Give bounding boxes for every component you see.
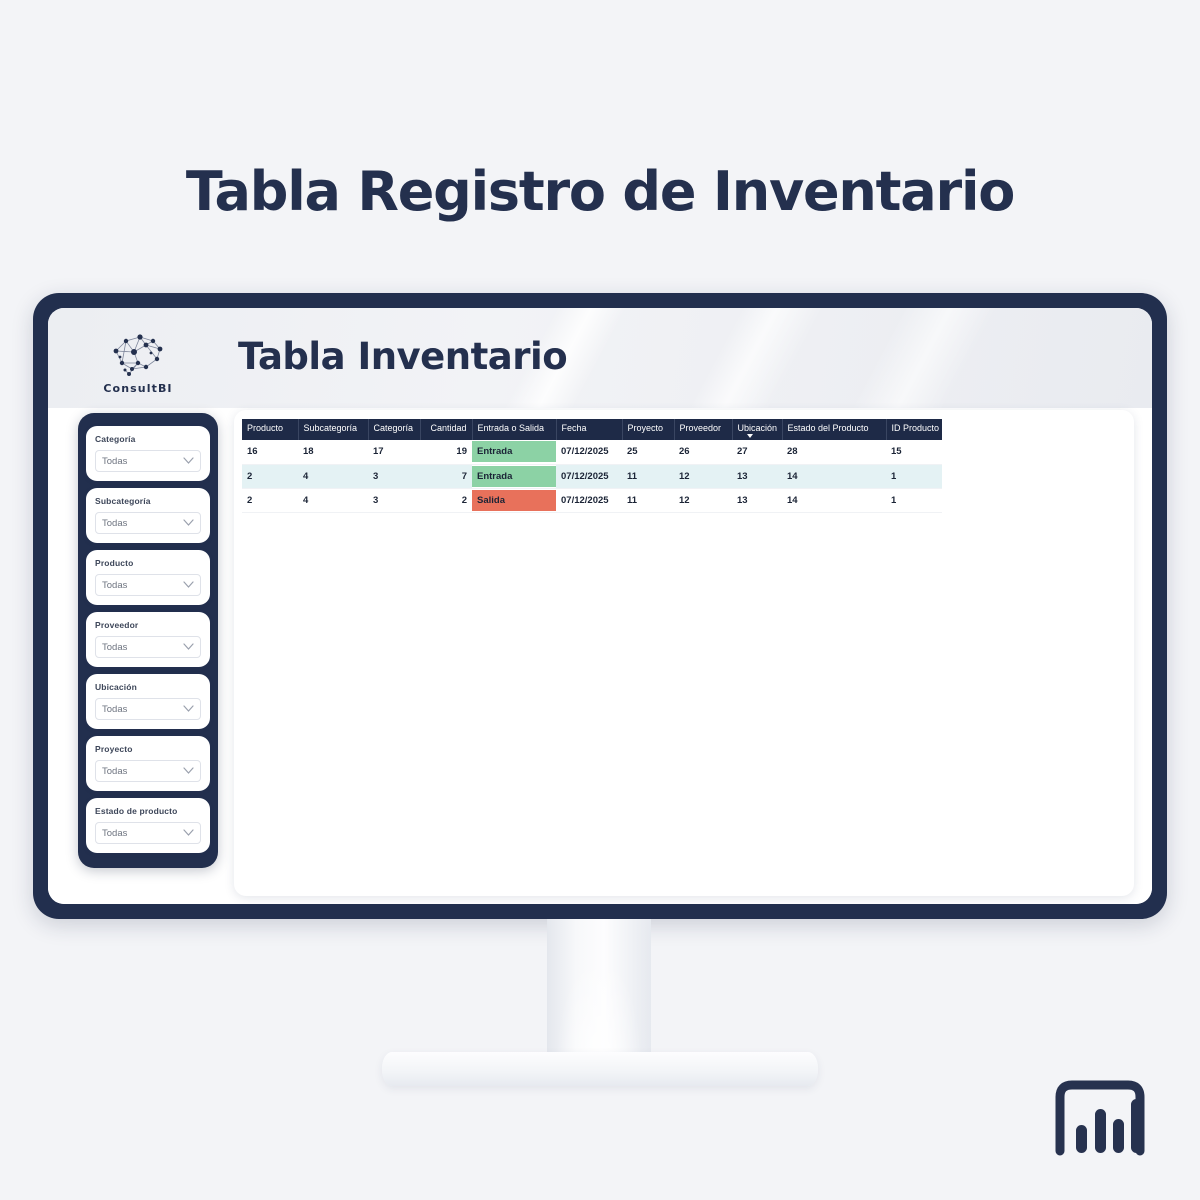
power-bi-icon bbox=[1050, 1077, 1150, 1169]
sort-descending-icon bbox=[747, 434, 753, 438]
filter-label-proyecto: Proyecto bbox=[95, 744, 201, 754]
filter-value-subcategor-a: Todas bbox=[102, 518, 127, 529]
filter-card-categor-a: CategoríaTodas bbox=[86, 426, 210, 481]
cell-categoria: 17 bbox=[368, 440, 420, 464]
brand-logo-text: ConsultBI bbox=[96, 382, 180, 395]
cell-proyecto: 11 bbox=[622, 464, 674, 488]
cell-estado: 28 bbox=[782, 440, 886, 464]
filter-label-proveedor: Proveedor bbox=[95, 620, 201, 630]
cell-id-producto: 1 bbox=[886, 464, 942, 488]
cell-fecha: 07/12/2025 bbox=[556, 440, 622, 464]
filter-label-ubicaci-n: Ubicación bbox=[95, 682, 201, 692]
chevron-down-icon[interactable] bbox=[183, 829, 194, 837]
cell-cantidad: 7 bbox=[420, 464, 472, 488]
table-row[interactable]: 2437Entrada07/12/2025111213141 bbox=[242, 464, 942, 488]
filter-value-proveedor: Todas bbox=[102, 642, 127, 653]
column-header-cantidad[interactable]: Cantidad bbox=[420, 419, 472, 440]
cell-movimiento: Entrada bbox=[472, 440, 556, 464]
filter-card-ubicaci-n: UbicaciónTodas bbox=[86, 674, 210, 729]
cell-estado: 14 bbox=[782, 464, 886, 488]
column-header-id-producto[interactable]: ID Producto bbox=[886, 419, 942, 440]
filter-select-producto[interactable]: Todas bbox=[95, 574, 201, 596]
chevron-down-icon[interactable] bbox=[183, 643, 194, 651]
monitor-stand-base bbox=[382, 1052, 818, 1086]
filter-panel: CategoríaTodasSubcategoríaTodasProductoT… bbox=[78, 413, 218, 868]
cell-proyecto: 11 bbox=[622, 488, 674, 512]
filter-label-estado-de-producto: Estado de producto bbox=[95, 806, 201, 816]
filter-card-producto: ProductoTodas bbox=[86, 550, 210, 605]
cell-producto: 2 bbox=[242, 464, 298, 488]
table-row[interactable]: 16181719Entrada07/12/20252526272815 bbox=[242, 440, 942, 464]
cell-id-producto: 15 bbox=[886, 440, 942, 464]
column-header-subcategor-a[interactable]: Subcategoría bbox=[298, 419, 368, 440]
filter-value-proyecto: Todas bbox=[102, 766, 127, 777]
filter-select-estado-de-producto[interactable]: Todas bbox=[95, 822, 201, 844]
monitor-mockup: ConsultBI Tabla Inventario CategoríaToda… bbox=[33, 293, 1167, 919]
column-header-proyecto[interactable]: Proyecto bbox=[622, 419, 674, 440]
movement-badge: Salida bbox=[472, 490, 556, 511]
chevron-down-icon[interactable] bbox=[183, 457, 194, 465]
filter-select-subcategor-a[interactable]: Todas bbox=[95, 512, 201, 534]
chevron-down-icon[interactable] bbox=[183, 767, 194, 775]
filter-value-producto: Todas bbox=[102, 580, 127, 591]
inventory-table: ProductoSubcategoríaCategoríaCantidadEnt… bbox=[242, 419, 942, 513]
report-header: ConsultBI Tabla Inventario bbox=[48, 308, 1152, 408]
cell-movimiento: Entrada bbox=[472, 464, 556, 488]
report-title: Tabla Inventario bbox=[238, 335, 567, 378]
cell-producto: 16 bbox=[242, 440, 298, 464]
cell-estado: 14 bbox=[782, 488, 886, 512]
brand-logo: ConsultBI bbox=[96, 325, 180, 395]
monitor-stand-neck bbox=[547, 919, 651, 1061]
cell-proveedor: 12 bbox=[674, 464, 732, 488]
filter-card-estado-de-producto: Estado de productoTodas bbox=[86, 798, 210, 853]
movement-badge: Entrada bbox=[472, 466, 556, 487]
table-header-row: ProductoSubcategoríaCategoríaCantidadEnt… bbox=[242, 419, 942, 440]
cell-fecha: 07/12/2025 bbox=[556, 464, 622, 488]
filter-value-estado-de-producto: Todas bbox=[102, 828, 127, 839]
cell-ubicacion: 13 bbox=[732, 488, 782, 512]
page-title: Tabla Registro de Inventario bbox=[0, 160, 1200, 223]
cell-proveedor: 26 bbox=[674, 440, 732, 464]
column-header-fecha[interactable]: Fecha bbox=[556, 419, 622, 440]
table-row[interactable]: 2432Salida07/12/2025111213141 bbox=[242, 488, 942, 512]
cell-ubicacion: 27 bbox=[732, 440, 782, 464]
cell-producto: 2 bbox=[242, 488, 298, 512]
column-header-ubicaci-n[interactable]: Ubicación bbox=[732, 419, 782, 440]
cell-categoria: 3 bbox=[368, 488, 420, 512]
filter-select-categor-a[interactable]: Todas bbox=[95, 450, 201, 472]
chevron-down-icon[interactable] bbox=[183, 519, 194, 527]
report-body: CategoríaTodasSubcategoríaTodasProductoT… bbox=[48, 408, 1152, 904]
cell-id-producto: 1 bbox=[886, 488, 942, 512]
cell-subcategoria: 18 bbox=[298, 440, 368, 464]
filter-select-proyecto[interactable]: Todas bbox=[95, 760, 201, 782]
filter-value-categor-a: Todas bbox=[102, 456, 127, 467]
cell-ubicacion: 13 bbox=[732, 464, 782, 488]
cell-cantidad: 2 bbox=[420, 488, 472, 512]
cell-subcategoria: 4 bbox=[298, 488, 368, 512]
column-header-estado-del-producto[interactable]: Estado del Producto bbox=[782, 419, 886, 440]
chevron-down-icon[interactable] bbox=[183, 705, 194, 713]
column-header-producto[interactable]: Producto bbox=[242, 419, 298, 440]
filter-label-producto: Producto bbox=[95, 558, 201, 568]
filter-select-proveedor[interactable]: Todas bbox=[95, 636, 201, 658]
column-header-proveedor[interactable]: Proveedor bbox=[674, 419, 732, 440]
filter-label-subcategor-a: Subcategoría bbox=[95, 496, 201, 506]
table-visual-card: ProductoSubcategoríaCategoríaCantidadEnt… bbox=[234, 410, 1134, 896]
monitor-screen: ConsultBI Tabla Inventario CategoríaToda… bbox=[48, 308, 1152, 904]
cell-cantidad: 19 bbox=[420, 440, 472, 464]
column-header-categor-a[interactable]: Categoría bbox=[368, 419, 420, 440]
cell-categoria: 3 bbox=[368, 464, 420, 488]
filter-value-ubicaci-n: Todas bbox=[102, 704, 127, 715]
cell-subcategoria: 4 bbox=[298, 464, 368, 488]
cell-fecha: 07/12/2025 bbox=[556, 488, 622, 512]
cell-proveedor: 12 bbox=[674, 488, 732, 512]
filter-card-proyecto: ProyectoTodas bbox=[86, 736, 210, 791]
filter-card-subcategor-a: SubcategoríaTodas bbox=[86, 488, 210, 543]
filter-select-ubicaci-n[interactable]: Todas bbox=[95, 698, 201, 720]
table-body: 16181719Entrada07/12/202525262728152437E… bbox=[242, 440, 942, 512]
cell-proyecto: 25 bbox=[622, 440, 674, 464]
brain-network-icon bbox=[96, 325, 180, 381]
filter-card-proveedor: ProveedorTodas bbox=[86, 612, 210, 667]
filter-label-categor-a: Categoría bbox=[95, 434, 201, 444]
chevron-down-icon[interactable] bbox=[183, 581, 194, 589]
movement-badge: Entrada bbox=[472, 441, 556, 462]
column-header-entrada-o-salida[interactable]: Entrada o Salida bbox=[472, 419, 556, 440]
cell-movimiento: Salida bbox=[472, 488, 556, 512]
